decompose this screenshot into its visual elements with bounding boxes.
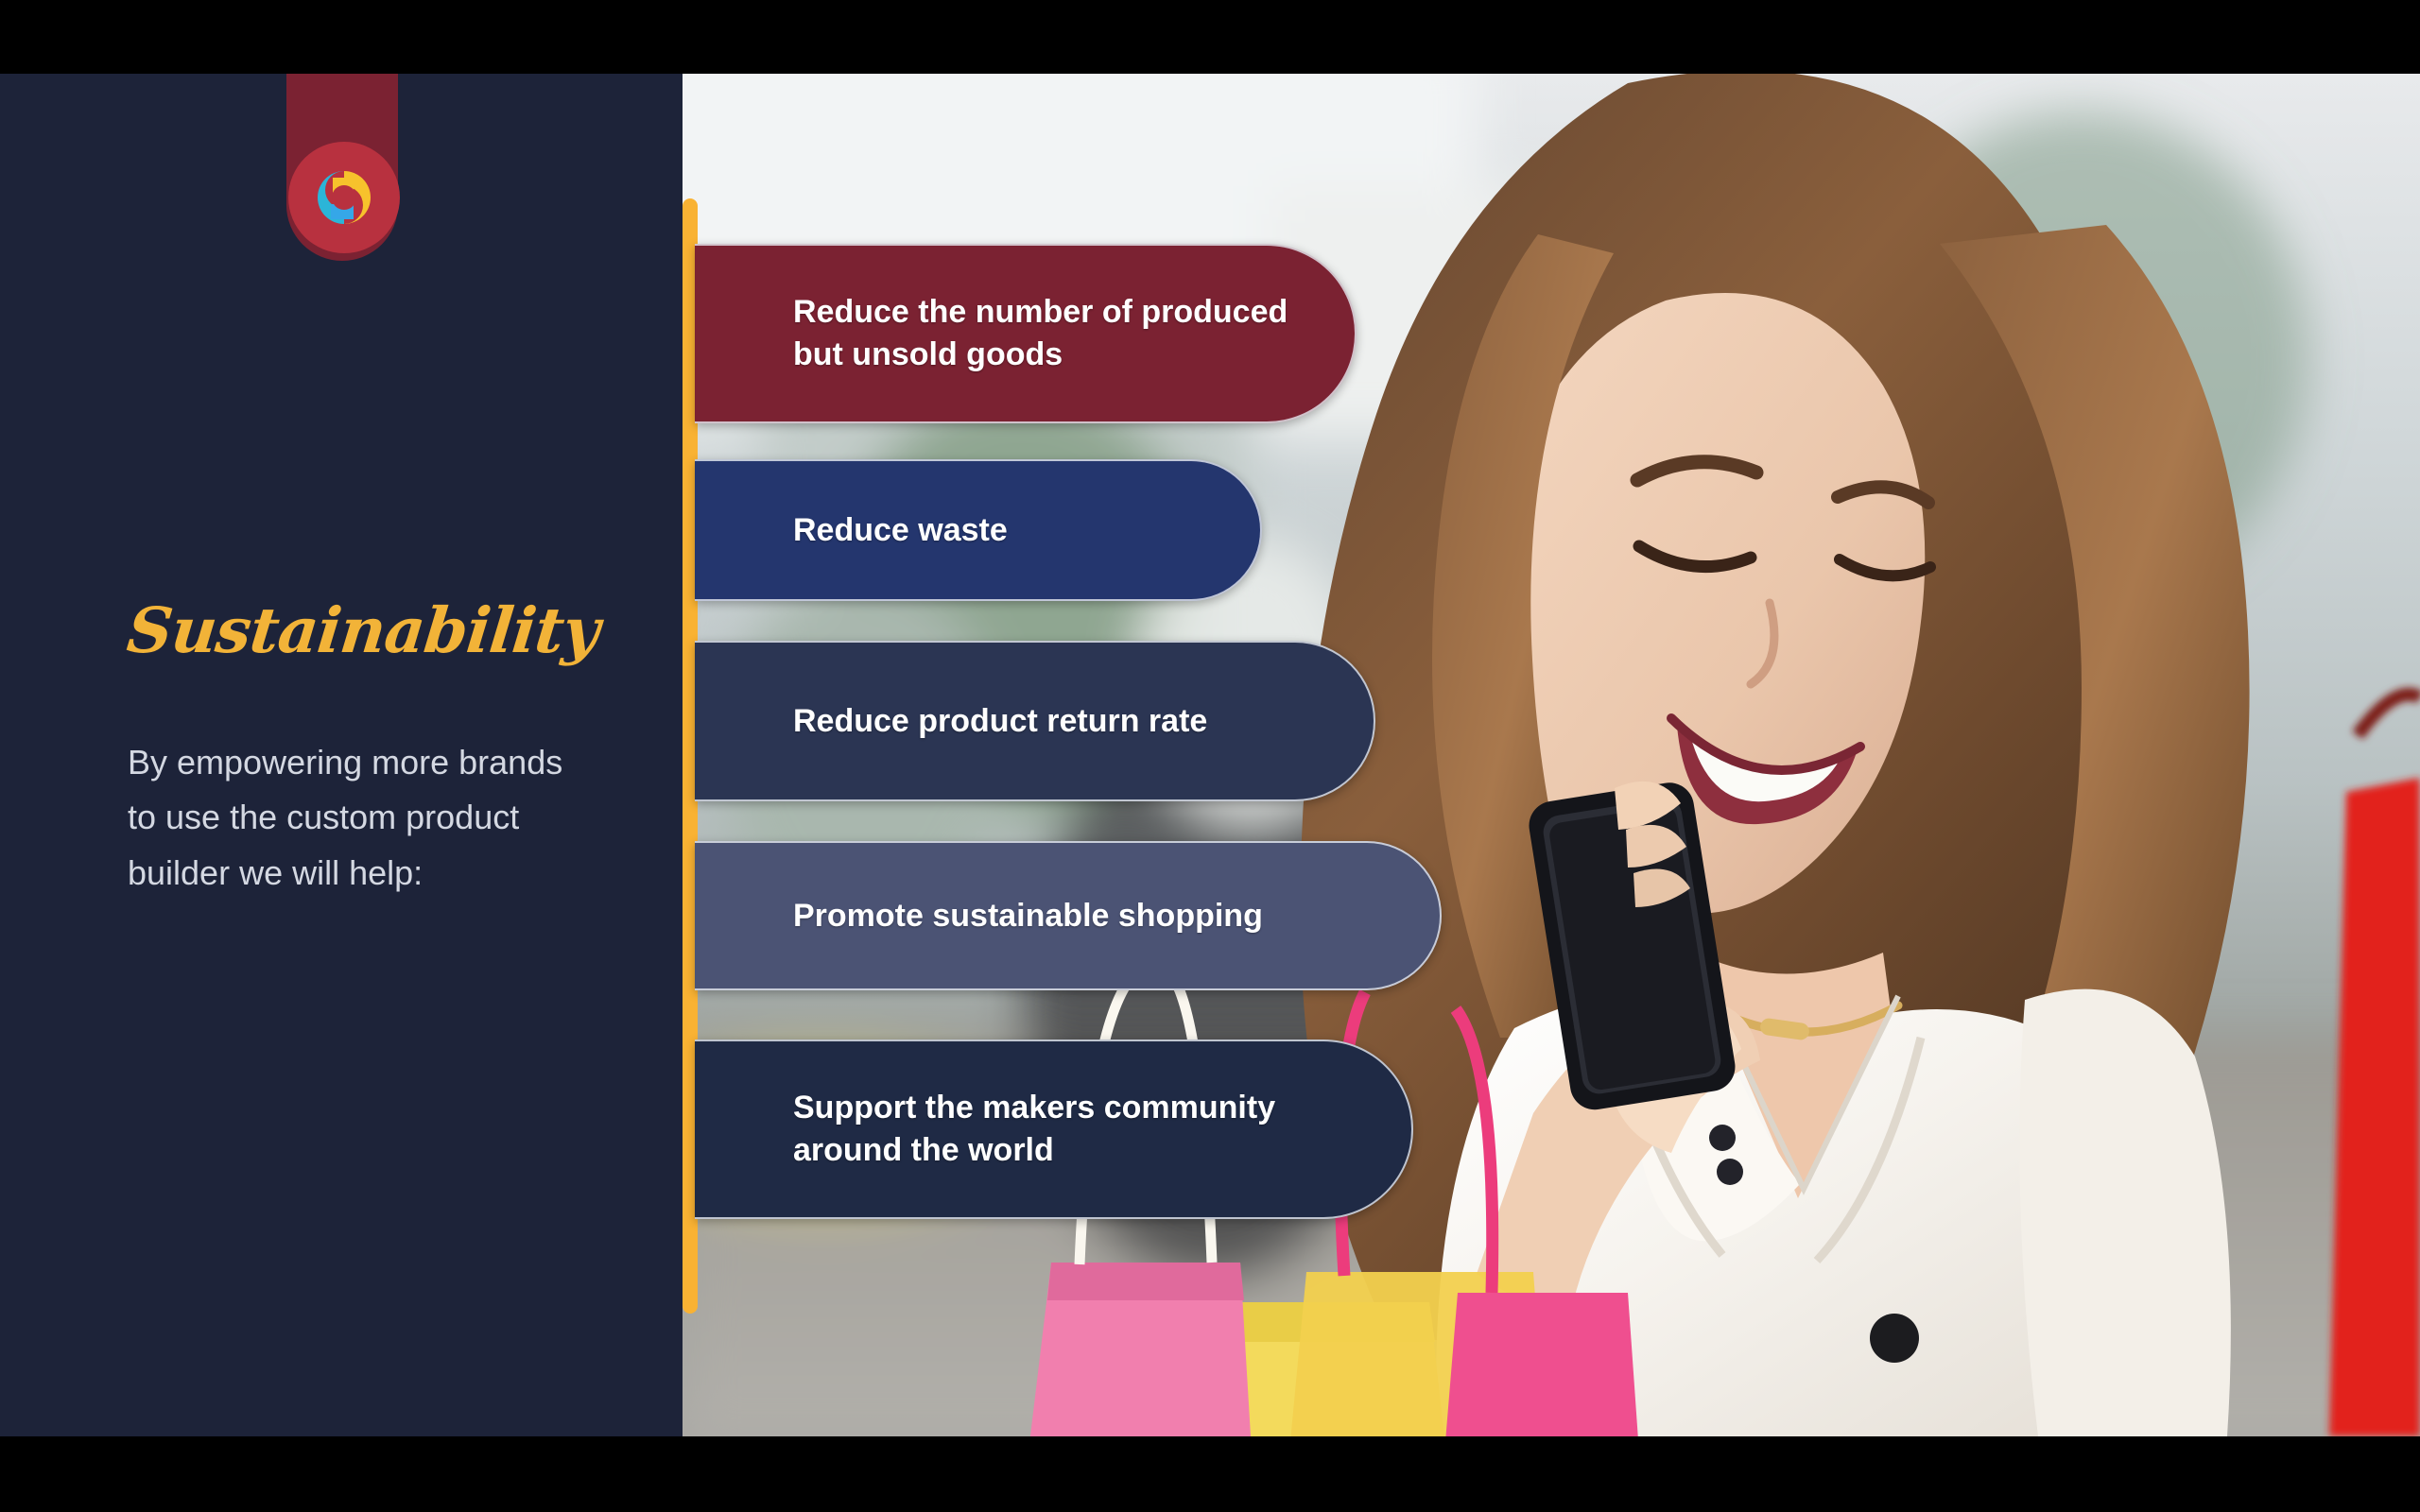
page-title-block: Sustainability (128, 598, 619, 663)
letterbox-top (0, 0, 2420, 74)
benefit-pill-label: Reduce product return rate (695, 700, 1254, 743)
benefit-pill-label: Promote sustainable shopping (695, 895, 1310, 937)
page-title: Sustainability (124, 598, 622, 663)
benefit-pill-label: Reduce the number of produced but unsold… (695, 291, 1355, 376)
benefit-pill[interactable]: Support the makers community around the … (695, 1039, 1413, 1219)
benefit-pill[interactable]: Promote sustainable shopping (695, 841, 1442, 990)
benefit-pill-label: Reduce waste (695, 509, 1055, 552)
benefit-pill-label: Support the makers community around the … (695, 1087, 1411, 1172)
benefit-pill[interactable]: Reduce product return rate (695, 641, 1375, 801)
letterbox-bottom (0, 1436, 2420, 1512)
benefit-pill[interactable]: Reduce waste (695, 459, 1262, 601)
benefit-pill-list: Reduce the number of produced but unsold… (695, 74, 1924, 1436)
brand-logo-icon (288, 142, 400, 253)
left-sidebar: Sustainability By empowering more brands… (0, 74, 683, 1436)
slide-stage: Sustainability By empowering more brands… (0, 74, 2420, 1436)
benefit-pill[interactable]: Reduce the number of produced but unsold… (695, 244, 1357, 423)
intro-paragraph: By empowering more brands to use the cus… (128, 735, 572, 901)
slide-root: Sustainability By empowering more brands… (0, 0, 2420, 1512)
